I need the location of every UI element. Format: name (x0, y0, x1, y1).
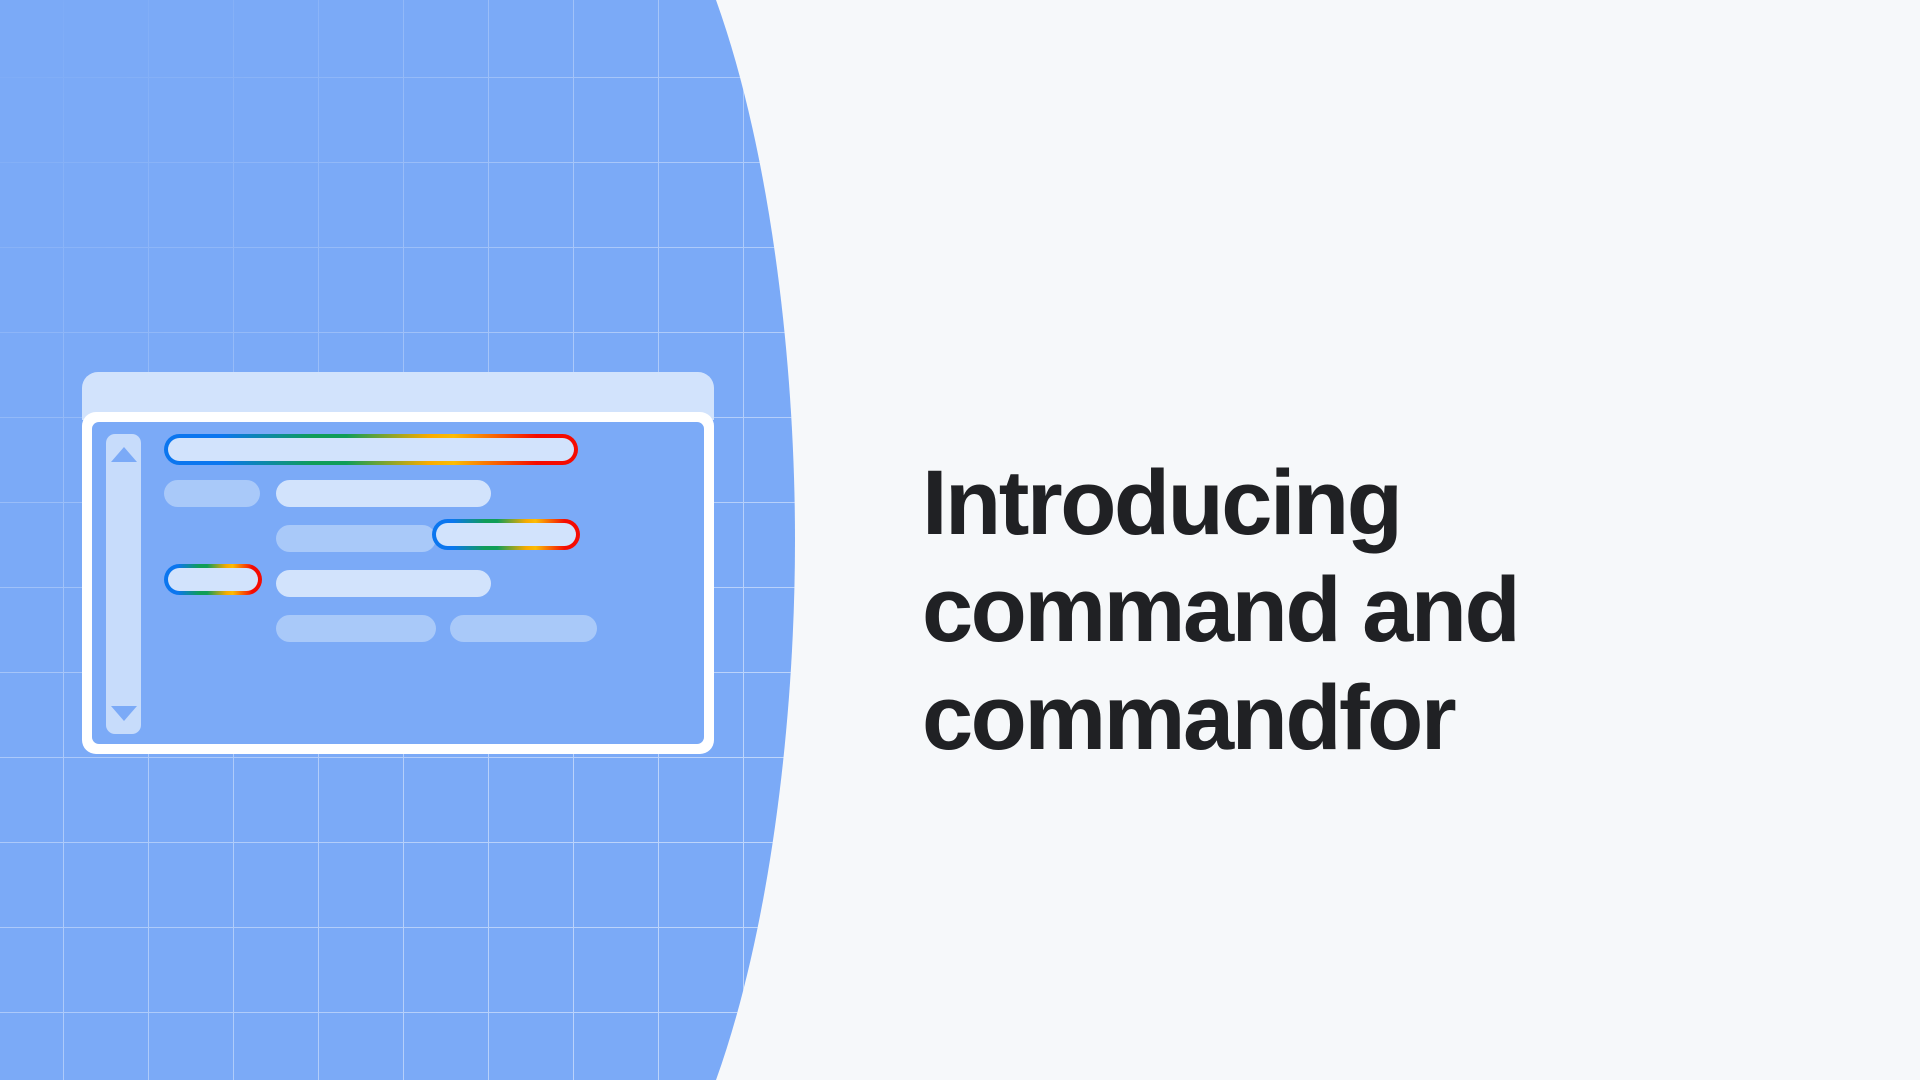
invoker-pill-3[interactable] (164, 564, 262, 595)
placeholder-bar-2 (276, 480, 491, 507)
page-title: Introducing command and commandfor (922, 450, 1822, 773)
placeholder-bar-6 (450, 615, 597, 642)
placeholder-bar-4 (276, 570, 491, 597)
invoker-pill-2-inner (436, 523, 576, 546)
invoker-pill-1-inner (168, 438, 574, 461)
browser-viewport-frame (82, 412, 714, 754)
invoker-pill-2[interactable] (432, 519, 580, 550)
invoker-pill-3-inner (168, 568, 258, 591)
placeholder-bar-5 (276, 615, 436, 642)
triangle-up-icon[interactable] (111, 447, 137, 462)
page-content-rows (164, 422, 698, 744)
placeholder-bar-1 (164, 480, 260, 507)
triangle-down-icon[interactable] (111, 706, 137, 721)
vertical-scrollbar[interactable] (106, 434, 141, 734)
browser-window-illustration (82, 372, 714, 754)
placeholder-bar-3 (276, 525, 436, 552)
invoker-pill-1[interactable] (164, 434, 578, 465)
page-root: Introducing command and commandfor (0, 0, 1920, 1080)
browser-page-canvas (92, 422, 704, 744)
